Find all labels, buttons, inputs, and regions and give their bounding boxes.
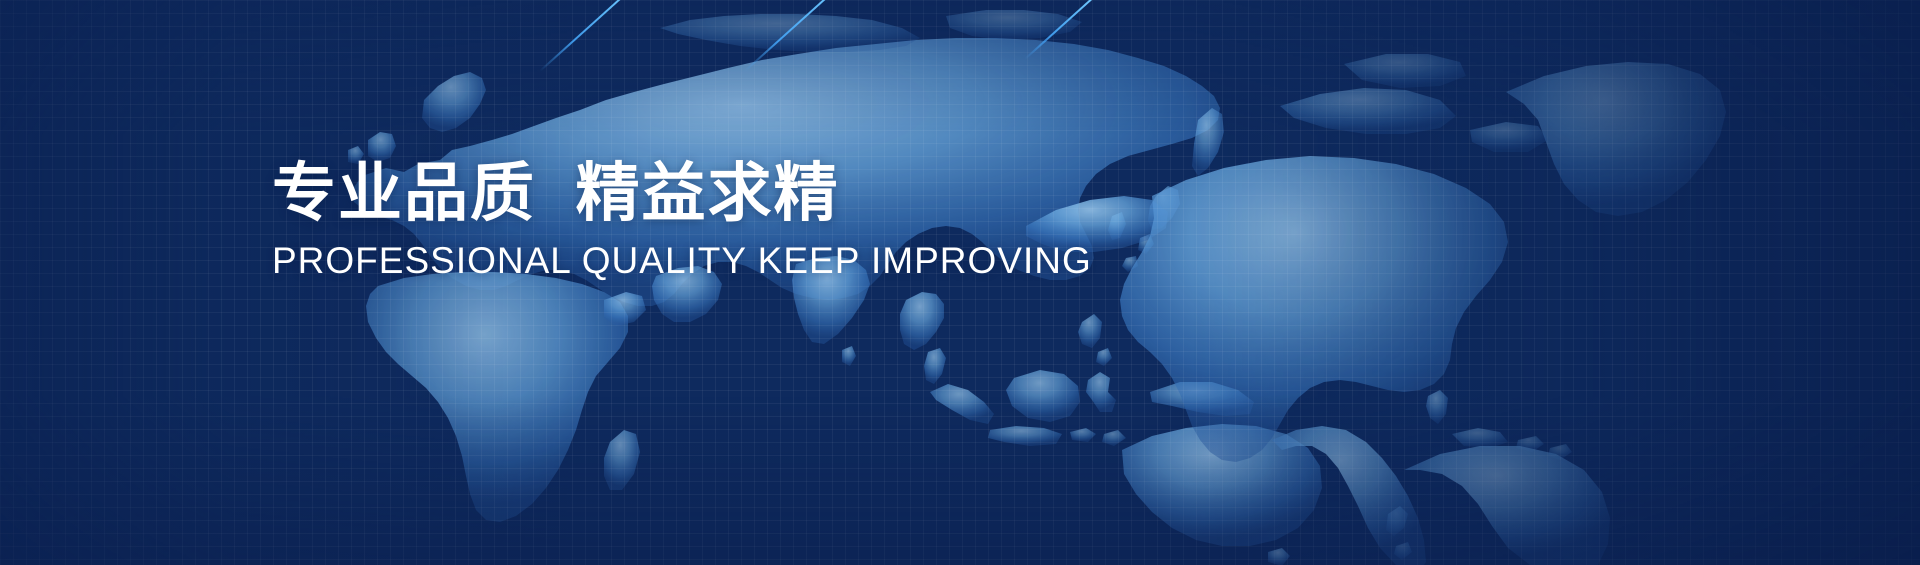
world-map-icon (0, 0, 1920, 565)
banner-subtitle: PROFESSIONAL QUALITY KEEP IMPROVING (272, 241, 1092, 282)
banner-headline: 专业品质 精益求精 (272, 160, 1092, 227)
hero-banner: 专业品质 精益求精 PROFESSIONAL QUALITY KEEP IMPR… (0, 0, 1920, 565)
banner-text-block: 专业品质 精益求精 PROFESSIONAL QUALITY KEEP IMPR… (272, 160, 1092, 282)
